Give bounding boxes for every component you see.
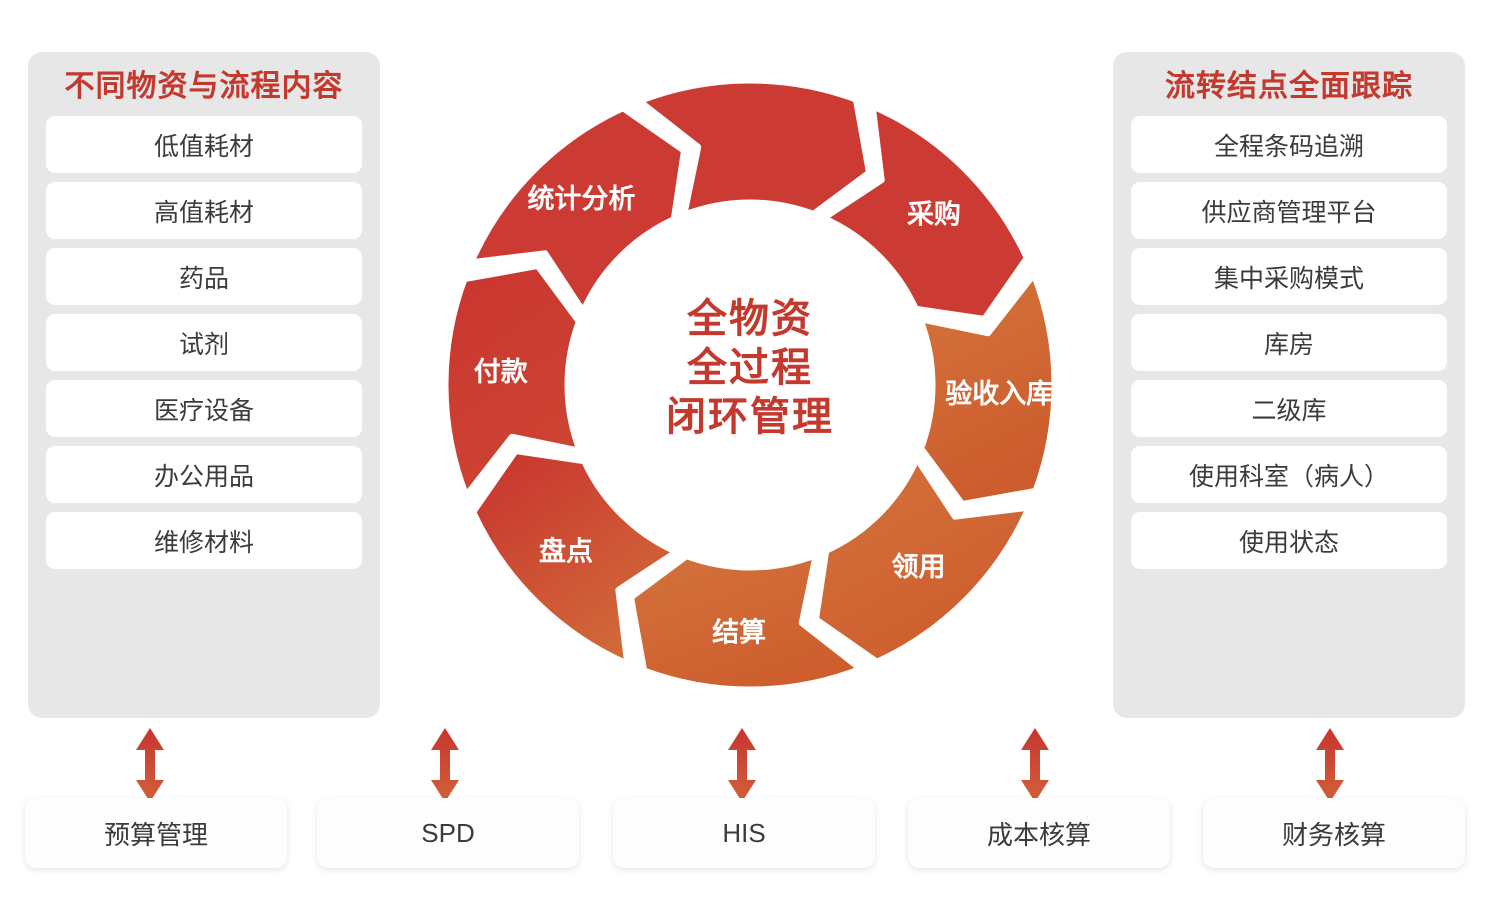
list-item[interactable]: 使用科室（病人） bbox=[1131, 446, 1447, 503]
left-panel-title: 不同物资与流程内容 bbox=[28, 52, 380, 116]
list-item[interactable]: 全程条码追溯 bbox=[1131, 116, 1447, 173]
center-line-3: 闭环管理 bbox=[615, 393, 885, 442]
list-item[interactable]: 办公用品 bbox=[46, 446, 362, 503]
right-panel-title: 流转结点全面跟踪 bbox=[1113, 52, 1465, 116]
list-item[interactable]: 低值耗材 bbox=[46, 116, 362, 173]
double-arrow-icon bbox=[428, 728, 462, 802]
double-arrow-icon bbox=[1313, 728, 1347, 802]
double-arrow-icon bbox=[133, 728, 167, 802]
left-panel-list: 低值耗材 高值耗材 药品 试剂 医疗设备 办公用品 维修材料 bbox=[28, 116, 380, 583]
double-arrow-icon bbox=[1018, 728, 1052, 802]
right-panel: 流转结点全面跟踪 全程条码追溯 供应商管理平台 集中采购模式 库房 二级库 使用… bbox=[1113, 52, 1465, 718]
right-panel-list: 全程条码追溯 供应商管理平台 集中采购模式 库房 二级库 使用科室（病人） 使用… bbox=[1113, 116, 1465, 583]
center-headline: 全物资 全过程 闭环管理 bbox=[615, 295, 885, 441]
center-line-2: 全过程 bbox=[615, 344, 885, 393]
list-item[interactable]: 供应商管理平台 bbox=[1131, 182, 1447, 239]
center-line-1: 全物资 bbox=[615, 295, 885, 344]
list-item[interactable]: 维修材料 bbox=[46, 512, 362, 569]
list-item[interactable]: 医疗设备 bbox=[46, 380, 362, 437]
list-item[interactable]: 使用状态 bbox=[1131, 512, 1447, 569]
donut-segment-label: 领用 bbox=[892, 552, 946, 582]
bottom-box[interactable]: 预算管理 bbox=[25, 798, 287, 868]
donut-segment-label: 付款 bbox=[474, 357, 529, 387]
list-item[interactable]: 二级库 bbox=[1131, 380, 1447, 437]
list-item[interactable]: 高值耗材 bbox=[46, 182, 362, 239]
diagram-canvas: 不同物资与流程内容 低值耗材 高值耗材 药品 试剂 医疗设备 办公用品 维修材料… bbox=[0, 0, 1504, 916]
left-panel: 不同物资与流程内容 低值耗材 高值耗材 药品 试剂 医疗设备 办公用品 维修材料 bbox=[28, 52, 380, 718]
donut-segment-label: 盘点 bbox=[539, 536, 593, 567]
bottom-box[interactable]: HIS bbox=[613, 798, 875, 868]
list-item[interactable]: 试剂 bbox=[46, 314, 362, 371]
double-arrow-icon bbox=[725, 728, 759, 802]
donut-segment-label: 验收入库 bbox=[945, 378, 1053, 409]
list-item[interactable]: 药品 bbox=[46, 248, 362, 305]
donut-segment-label: 结算 bbox=[712, 616, 766, 647]
list-item[interactable]: 库房 bbox=[1131, 314, 1447, 371]
donut-segment-label: 统计分析 bbox=[527, 183, 635, 214]
list-item[interactable]: 集中采购模式 bbox=[1131, 248, 1447, 305]
donut-segment-label: 采购 bbox=[907, 200, 961, 230]
bottom-box[interactable]: 财务核算 bbox=[1203, 798, 1465, 868]
bottom-box[interactable]: 成本核算 bbox=[908, 798, 1170, 868]
bottom-box[interactable]: SPD bbox=[317, 798, 579, 868]
